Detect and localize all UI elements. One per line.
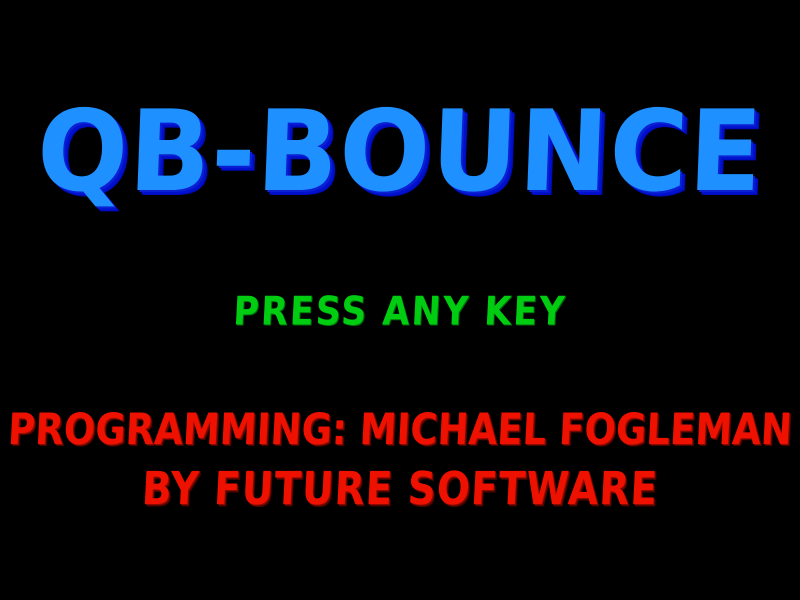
game-title-screen[interactable]: QB-BOUNCE PRESS ANY KEY PROGRAMMING: MIC… <box>0 0 800 600</box>
credits-block: PROGRAMMING: MICHAEL FOGLEMAN BY FUTURE … <box>0 410 800 510</box>
credits-publisher-line: BY FUTURE SOFTWARE <box>0 466 800 511</box>
press-any-key-prompt[interactable]: PRESS ANY KEY <box>0 291 800 331</box>
game-title: QB-BOUNCE <box>0 96 800 208</box>
credits-programming-line: PROGRAMMING: MICHAEL FOGLEMAN <box>0 408 800 451</box>
